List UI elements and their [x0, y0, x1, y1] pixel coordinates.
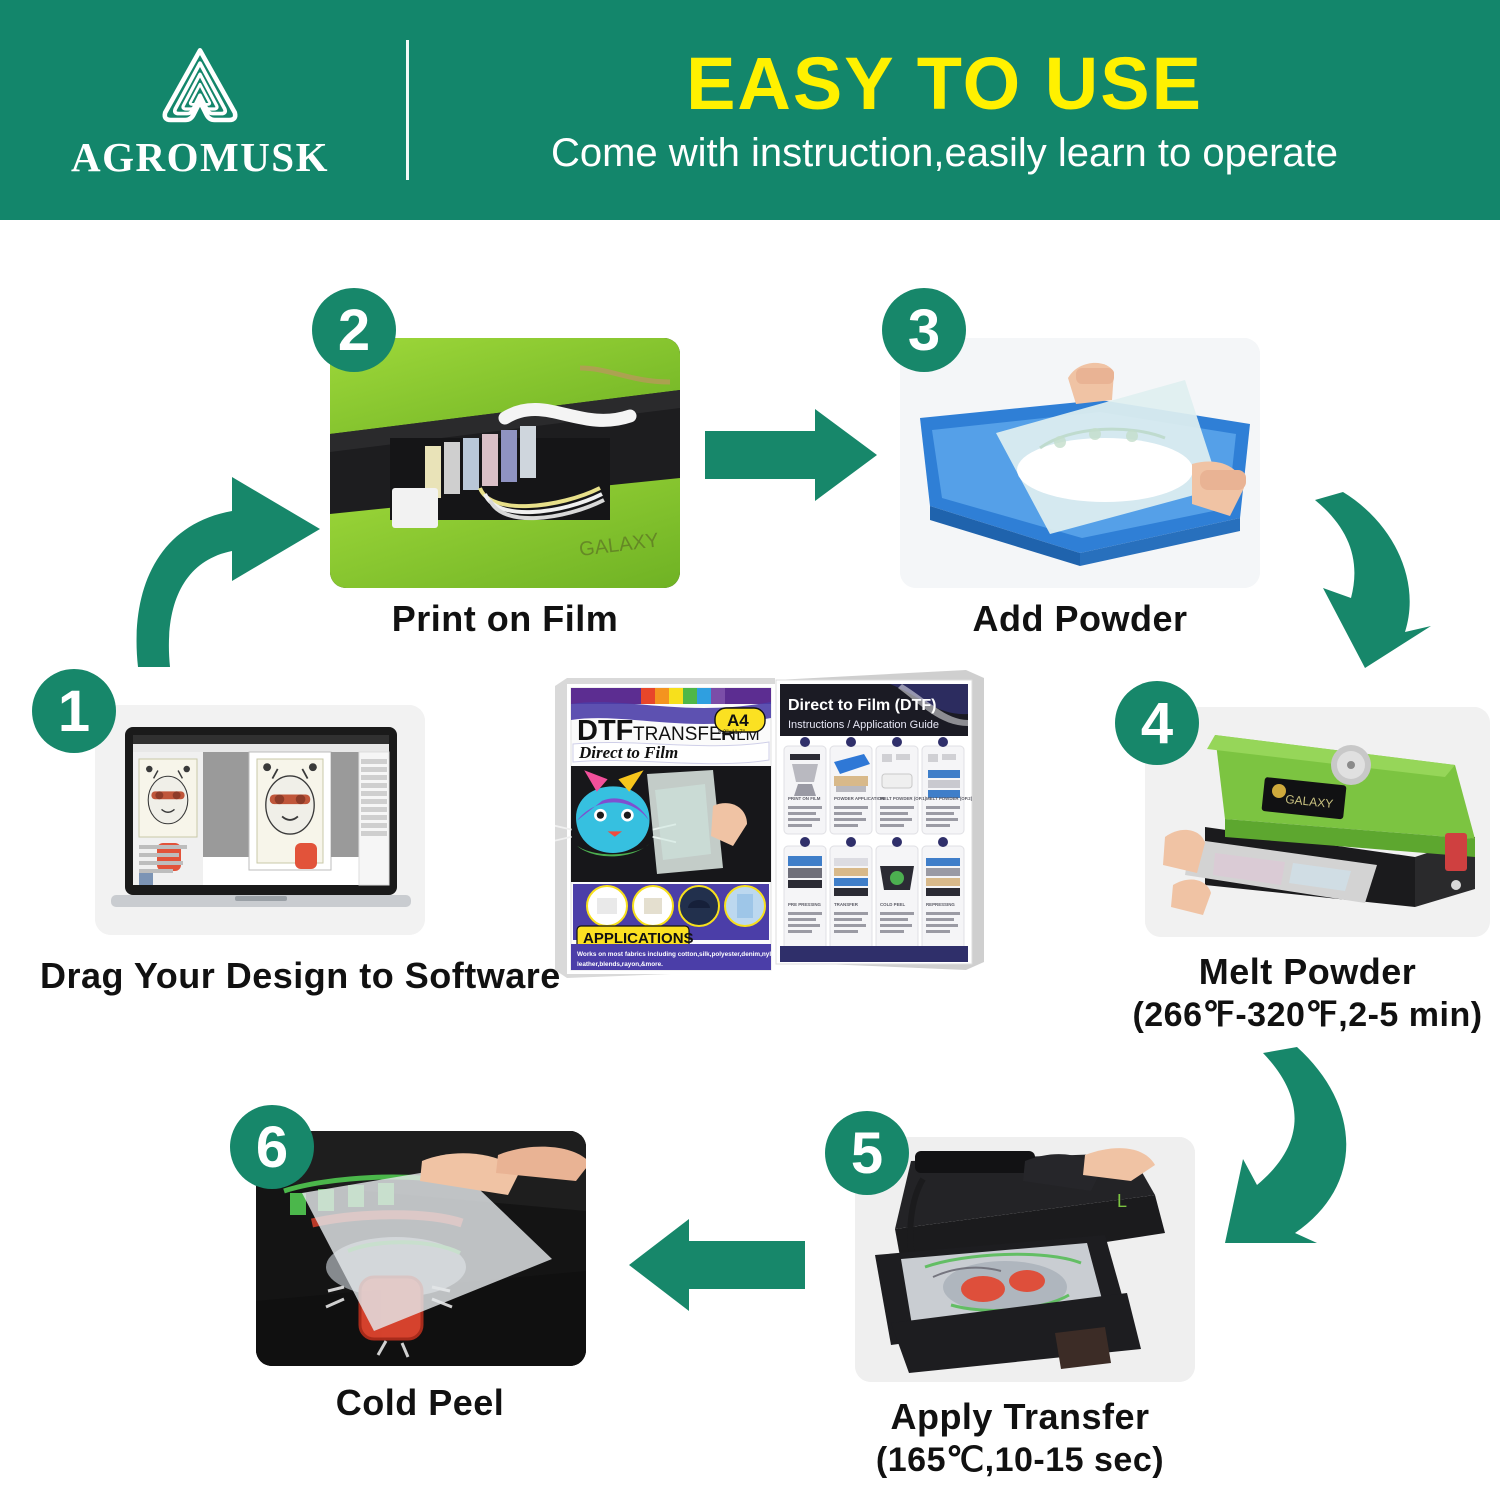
powder-tray-film-photo — [900, 338, 1260, 588]
arrow-step4-to-step5 — [1185, 1045, 1400, 1250]
step-badge-1: 1 — [32, 669, 116, 753]
subline: Come with instruction,easily learn to op… — [551, 132, 1338, 174]
heat-press-transfer-photo: L — [855, 1137, 1195, 1382]
step-caption-2: Print on Film — [330, 596, 680, 641]
arrow-step3-to-step4 — [1245, 490, 1445, 670]
svg-text:A4: A4 — [727, 711, 749, 730]
arrow-step2-to-step3 — [705, 405, 880, 505]
printer-ink-carriage-photo: GALAXY — [330, 338, 680, 588]
dtf-film-package: DTF TRANSFER FILM A4 8.3"x11.7" Direct t… — [555, 678, 775, 978]
svg-text:leather,blends,rayon,&more.: leather,blends,rayon,&more. — [577, 961, 663, 968]
step-caption-5-sub: (165℃,10-15 sec) — [825, 1439, 1215, 1482]
svg-text:COLD PEEL: COLD PEEL — [880, 902, 905, 907]
svg-text:Direct to Film (DTF): Direct to Film (DTF) — [788, 697, 936, 714]
step-caption-4-sub: (266℉-320℉,2-5 min) — [1115, 994, 1500, 1037]
step-caption-4-main: Melt Powder — [1199, 951, 1417, 992]
brand-name: AGROMUSK — [71, 137, 329, 178]
step-caption-5-main: Apply Transfer — [890, 1396, 1149, 1437]
step-badge-6: 6 — [230, 1105, 314, 1189]
step-badge-3: 3 — [882, 288, 966, 372]
step-4: 4 GALAXY Melt Powder (266℉-320℉,2-5 min) — [1115, 685, 1500, 1037]
header-divider — [406, 40, 409, 180]
svg-text:MELT POWDER (OP.1): MELT POWDER (OP.1) — [880, 796, 927, 801]
step-3: 3 Add Powder — [900, 300, 1260, 641]
brand-block: AGROMUSK — [0, 0, 400, 220]
arrow-step1-to-step2 — [120, 455, 350, 685]
step-badge-4: 4 — [1115, 681, 1199, 765]
header-banner: AGROMUSK EASY TO USE Come with instructi… — [0, 0, 1500, 220]
step-6: 6 Cold Peel — [230, 1105, 610, 1425]
svg-text:Works on most fabrics includin: Works on most fabrics including cotton,s… — [577, 951, 775, 958]
step-2: 2 GALAXY Print — [330, 300, 680, 641]
svg-text:MELT POWDER (OP.2): MELT POWDER (OP.2) — [926, 796, 973, 801]
svg-text:L: L — [1117, 1191, 1127, 1211]
svg-text:Direct to Film: Direct to Film — [578, 743, 678, 762]
step-1: 1 — [40, 675, 480, 998]
header-text-block: EASY TO USE Come with instruction,easily… — [409, 0, 1500, 220]
svg-text:Instructions / Application Gui: Instructions / Application Guide — [788, 719, 939, 731]
agromusk-triangle-logo-icon — [154, 43, 246, 131]
green-curing-oven-photo: GALAXY — [1145, 707, 1490, 937]
svg-text:PRE PRESSING: PRE PRESSING — [788, 902, 822, 907]
svg-text:REPRESSING: REPRESSING — [926, 902, 955, 907]
step-caption-5: Apply Transfer (165℃,10-15 sec) — [825, 1394, 1215, 1482]
arrow-step5-to-step6 — [625, 1215, 805, 1315]
step-badge-2: 2 — [312, 288, 396, 372]
product-shot: DTF TRANSFER FILM A4 8.3"x11.7" Direct t… — [555, 670, 995, 980]
svg-text:TRANSFER: TRANSFER — [834, 902, 859, 907]
step-caption-6: Cold Peel — [230, 1380, 610, 1425]
step-badge-5: 5 — [825, 1111, 909, 1195]
svg-text:PRINT ON FILM: PRINT ON FILM — [788, 796, 821, 801]
step-5: 5 L Apply Transfer (1 — [825, 1115, 1215, 1482]
dtf-instruction-guide: Direct to Film (DTF) Instructions / Appl… — [770, 670, 995, 975]
headline: EASY TO USE — [686, 46, 1203, 121]
step-caption-3: Add Powder — [900, 596, 1260, 641]
svg-text:POWDER APPLICATION: POWDER APPLICATION — [834, 796, 884, 801]
laptop-design-software-photo — [95, 705, 425, 935]
step-caption-4: Melt Powder (266℉-320℉,2-5 min) — [1115, 949, 1500, 1037]
step-caption-1: Drag Your Design to Software — [40, 953, 480, 998]
svg-text:8.3"x11.7": 8.3"x11.7" — [718, 730, 745, 736]
